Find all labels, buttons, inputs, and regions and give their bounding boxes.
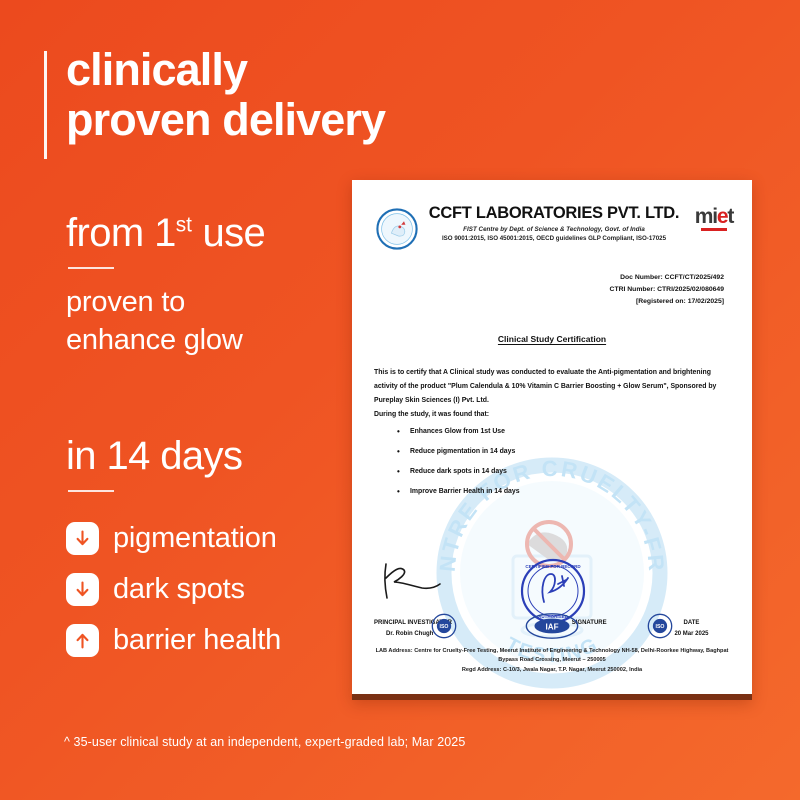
certificate-paragraph-2: During the study, it was found that: bbox=[374, 408, 730, 422]
ccft-lab-seal-icon bbox=[376, 208, 418, 250]
headline-accent-rule bbox=[44, 51, 47, 159]
doc-number: Doc Number: CCFT/CT/2025/492 bbox=[366, 272, 724, 284]
benefit-label-dark-spots: dark spots bbox=[113, 575, 245, 604]
lab-address: LAB Address: Centre for Cruelty-Free Tes… bbox=[352, 647, 752, 667]
investigator-signature-icon bbox=[378, 558, 448, 604]
iso-badge-right-icon: ISO bbox=[647, 613, 673, 639]
finding-item: Reduce dark spots in 14 days bbox=[410, 469, 730, 476]
findings-list: Enhances Glow from 1st Use Reduce pigmen… bbox=[374, 429, 730, 496]
arrow-down-icon bbox=[66, 522, 99, 555]
claim-divider-14-days bbox=[68, 490, 114, 492]
lab-name: CCFT LABORATORIES PVT. LTD. bbox=[420, 204, 688, 223]
accreditation-badges: ISO IAF ISO bbox=[352, 612, 752, 640]
miet-logo-text: miet bbox=[690, 206, 738, 227]
miet-logo: miet bbox=[690, 206, 738, 231]
certificate-title: Clinical Study Certification bbox=[366, 334, 738, 344]
document-meta: Doc Number: CCFT/CT/2025/492 CTRI Number… bbox=[366, 272, 738, 308]
lab-subtitle-2: ISO 9001:2015, ISO 45001:2015, OECD guid… bbox=[420, 235, 688, 242]
certificate-body: This is to certify that A Clinical study… bbox=[366, 366, 738, 496]
arrow-up-icon bbox=[66, 624, 99, 657]
claim-title-superscript: st bbox=[176, 214, 192, 237]
iso-badge-left-icon: ISO bbox=[431, 613, 457, 639]
benefit-row-barrier-health: barrier health bbox=[66, 621, 281, 659]
lab-subtitle-1: FIST Centre by Dept. of Science & Techno… bbox=[420, 226, 688, 233]
headline-line-1: clinically bbox=[66, 45, 385, 95]
svg-text:CERTIFIED FOR RECORD: CERTIFIED FOR RECORD bbox=[525, 564, 581, 569]
footnote-text: ^ 35-user clinical study at an independe… bbox=[64, 735, 465, 749]
claim-title-prefix: from 1 bbox=[66, 211, 176, 255]
regd-address: Regd Address: C-10/3, Jwala Nagar, T.P. … bbox=[352, 666, 752, 676]
lab-identity: CCFT LABORATORIES PVT. LTD. FIST Centre … bbox=[418, 204, 690, 242]
claim-title-suffix: use bbox=[192, 211, 265, 255]
iaf-badge-icon: IAF bbox=[525, 612, 579, 640]
certificate-document: CENTRE FOR CRUELTY-FREE TESTING CCFT LAB… bbox=[352, 180, 752, 700]
arrow-down-icon bbox=[66, 573, 99, 606]
ctri-number: CTRI Number: CTRI/2025/02/080649 bbox=[366, 284, 724, 296]
benefit-label-barrier-health: barrier health bbox=[113, 626, 281, 655]
benefits-list: pigmentation dark spots barrier health bbox=[66, 519, 281, 672]
finding-item: Improve Barrier Health in 14 days bbox=[410, 489, 730, 496]
certificate-header: CCFT LABORATORIES PVT. LTD. FIST Centre … bbox=[366, 180, 738, 250]
certificate-footer: ISO IAF ISO LAB Address: Centre for Crue… bbox=[352, 612, 752, 676]
marketing-panel: clinically proven delivery from 1st use … bbox=[0, 0, 360, 800]
finding-item: Enhances Glow from 1st Use bbox=[410, 429, 730, 436]
registered-on: [Registered on: 17/02/2025] bbox=[366, 296, 724, 308]
claim-block-first-use: from 1st use proven to enhance glow bbox=[66, 212, 265, 360]
claim-sub-line-2: enhance glow bbox=[66, 321, 265, 359]
claim-divider-first-use bbox=[68, 267, 114, 269]
headline-group: clinically proven delivery bbox=[44, 45, 385, 146]
benefit-row-pigmentation: pigmentation bbox=[66, 519, 281, 557]
miet-logo-underline bbox=[701, 228, 727, 231]
claim-title-first-use: from 1st use bbox=[66, 212, 265, 254]
svg-text:IAF: IAF bbox=[545, 622, 558, 631]
certificate-paragraph-1: This is to certify that A Clinical study… bbox=[374, 366, 730, 408]
finding-item: Reduce pigmentation in 14 days bbox=[410, 449, 730, 456]
benefit-label-pigmentation: pigmentation bbox=[113, 524, 277, 553]
svg-text:ISO: ISO bbox=[656, 624, 665, 630]
svg-text:ISO: ISO bbox=[440, 624, 449, 630]
benefit-row-dark-spots: dark spots bbox=[66, 570, 281, 608]
headline-line-2: proven delivery bbox=[66, 95, 385, 145]
claim-block-14-days: in 14 days bbox=[66, 435, 242, 506]
claim-sub-line-1: proven to bbox=[66, 283, 265, 321]
claim-title-14-days: in 14 days bbox=[66, 435, 242, 477]
